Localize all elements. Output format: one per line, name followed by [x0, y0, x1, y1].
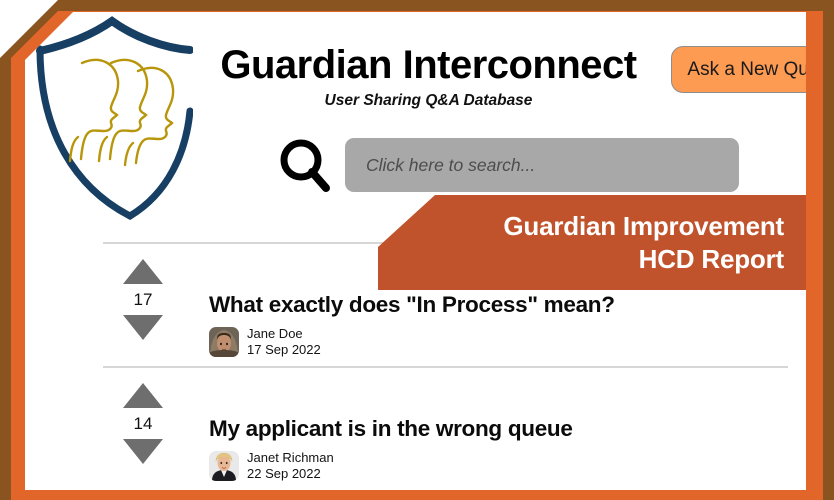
banner-line-1: Guardian Improvement — [503, 210, 784, 243]
question-list-item[interactable]: 14 My applicant is in the wrong queue — [25, 366, 806, 490]
author-date: Janet Richman 22 Sep 2022 — [247, 450, 334, 482]
question-title[interactable]: What exactly does "In Process" mean? — [209, 292, 615, 318]
question-meta: Janet Richman 22 Sep 2022 — [209, 450, 334, 482]
avatar — [209, 327, 239, 357]
downvote-arrow-icon[interactable] — [123, 439, 163, 464]
question-title[interactable]: My applicant is in the wrong queue — [209, 416, 573, 442]
downvote-arrow-icon[interactable] — [123, 315, 163, 340]
list-divider — [103, 366, 788, 368]
upvote-arrow-icon[interactable] — [123, 383, 163, 408]
vote-count: 17 — [114, 287, 172, 312]
ask-new-question-button[interactable]: Ask a New Question — [671, 46, 806, 93]
avatar — [209, 451, 239, 481]
upvote-arrow-icon[interactable] — [123, 259, 163, 284]
search-input[interactable] — [345, 138, 739, 192]
page-content: Guardian Interconnect User Sharing Q&A D… — [25, 12, 806, 490]
vote-control: 17 — [114, 259, 172, 340]
report-banner: Guardian Improvement HCD Report — [378, 195, 806, 290]
page-title: Guardian Interconnect — [196, 43, 661, 88]
post-date: 22 Sep 2022 — [247, 466, 334, 482]
post-date: 17 Sep 2022 — [247, 342, 321, 358]
search-icon[interactable] — [275, 134, 335, 196]
vote-count: 14 — [114, 411, 172, 436]
guardian-shield-logo — [25, 15, 193, 225]
page-subtitle: User Sharing Q&A Database — [196, 92, 661, 110]
author-name: Janet Richman — [247, 450, 334, 466]
vote-control: 14 — [114, 383, 172, 464]
banner-line-2: HCD Report — [639, 243, 784, 276]
question-meta: Jane Doe 17 Sep 2022 — [209, 326, 321, 358]
author-name: Jane Doe — [247, 326, 321, 342]
author-date: Jane Doe 17 Sep 2022 — [247, 326, 321, 358]
